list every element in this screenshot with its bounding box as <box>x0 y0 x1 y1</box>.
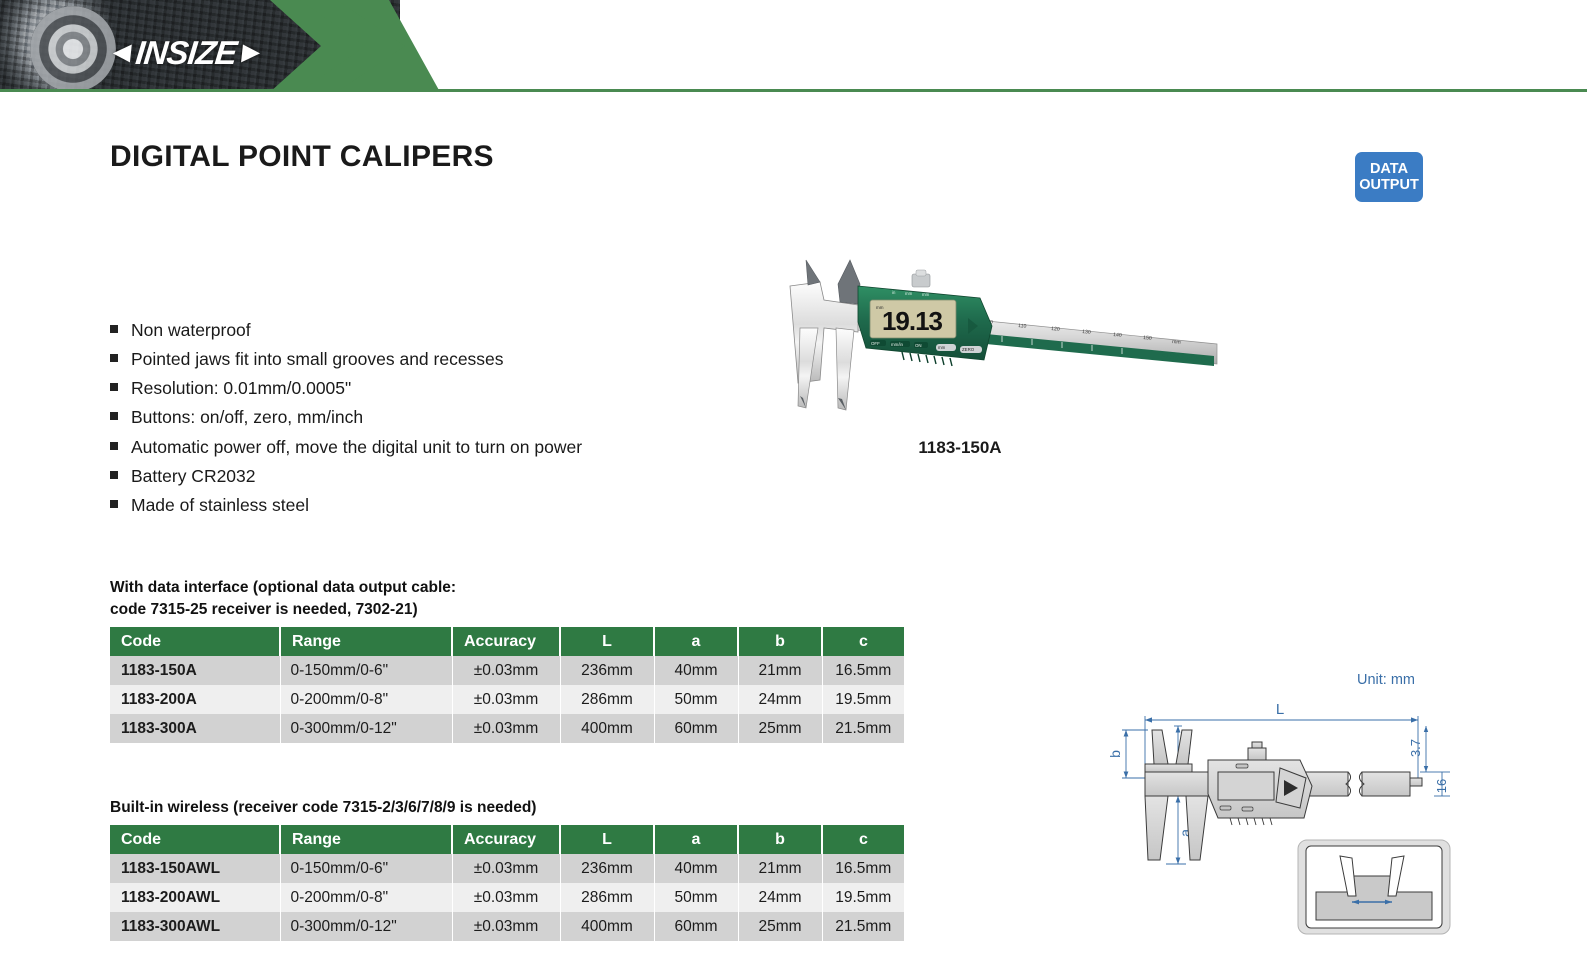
logo-arrow-left-icon: ◄ <box>105 36 137 70</box>
square-bullet-icon <box>110 383 118 391</box>
caption-line-2: code 7315-25 receiver is needed, 7302-21… <box>110 599 904 621</box>
svg-text:120: 120 <box>1051 326 1060 333</box>
svg-text:mm: mm <box>905 291 913 296</box>
spec-table-data-interface: Code Range Accuracy L a b c 1183-150A 0-… <box>110 627 904 743</box>
cell-L: 236mm <box>560 656 654 685</box>
list-item: Pointed jaws fit into small grooves and … <box>110 347 730 371</box>
square-bullet-icon <box>110 500 118 508</box>
data-output-badge: DATA OUTPUT <box>1355 152 1423 202</box>
caption-line-1: With data interface (optional data outpu… <box>110 577 904 599</box>
svg-text:ON: ON <box>915 343 922 348</box>
cell-a: 50mm <box>654 685 738 714</box>
cell-b: 21mm <box>738 656 822 685</box>
cell-L: 286mm <box>560 685 654 714</box>
page-header: ◄INSIZE► <box>0 0 1587 92</box>
header-green-rule <box>0 89 1587 92</box>
cell-code: 1183-150A <box>110 656 280 685</box>
cell-c: 16.5mm <box>822 656 904 685</box>
svg-text:mm: mm <box>938 345 946 350</box>
insize-logo: ◄INSIZE► <box>94 36 278 70</box>
product-photo-caption: 1183-150A <box>760 438 1160 458</box>
cell-code: 1183-300A <box>110 714 280 743</box>
column-header-accuracy: Accuracy <box>452 627 560 656</box>
cell-accuracy: ±0.03mm <box>452 714 560 743</box>
dim-label-3-7: 3.7 <box>1408 739 1423 757</box>
column-header-L: L <box>560 825 654 854</box>
list-item: Battery CR2032 <box>110 464 730 488</box>
list-item: Automatic power off, move the digital un… <box>110 435 730 459</box>
table-caption-data-interface: With data interface (optional data outpu… <box>110 577 904 621</box>
cell-code: 1183-200A <box>110 685 280 714</box>
svg-text:mm/in: mm/in <box>891 342 904 347</box>
svg-text:mm: mm <box>1172 339 1181 346</box>
cell-a: 50mm <box>654 883 738 912</box>
cell-b: 24mm <box>738 685 822 714</box>
svg-text:ZERO: ZERO <box>962 347 975 352</box>
column-header-range: Range <box>280 825 452 854</box>
badge-line-2: OUTPUT <box>1359 177 1419 193</box>
logo-wordmark: INSIZE <box>134 34 238 72</box>
cell-accuracy: ±0.03mm <box>452 883 560 912</box>
cell-b: 25mm <box>738 714 822 743</box>
table-header-row: Code Range Accuracy L a b c <box>110 825 904 854</box>
feature-list: Non waterproof Pointed jaws fit into sma… <box>110 318 730 522</box>
cell-L: 400mm <box>560 912 654 941</box>
cell-range: 0-300mm/0-12" <box>280 714 452 743</box>
cell-accuracy: ±0.03mm <box>452 685 560 714</box>
cell-range: 0-200mm/0-8" <box>280 883 452 912</box>
square-bullet-icon <box>110 442 118 450</box>
svg-text:110: 110 <box>1018 323 1027 330</box>
cell-b: 24mm <box>738 883 822 912</box>
cell-range: 0-200mm/0-8" <box>280 685 452 714</box>
feature-text: Pointed jaws fit into small grooves and … <box>131 347 504 371</box>
square-bullet-icon <box>110 354 118 362</box>
cell-L: 236mm <box>560 854 654 883</box>
column-header-c: c <box>822 627 904 656</box>
page-title: DIGITAL POINT CALIPERS <box>110 140 494 174</box>
list-item: Made of stainless steel <box>110 493 730 517</box>
column-header-code: Code <box>110 825 280 854</box>
cell-code: 1183-200AWL <box>110 883 280 912</box>
table-header-row: Code Range Accuracy L a b c <box>110 627 904 656</box>
table-row: 1183-200A 0-200mm/0-8" ±0.03mm 286mm 50m… <box>110 685 904 714</box>
column-header-a: a <box>654 825 738 854</box>
list-item: Buttons: on/off, zero, mm/inch <box>110 405 730 429</box>
cell-a: 60mm <box>654 912 738 941</box>
technical-drawing: L b c a 3.7 16 <box>1090 668 1470 938</box>
cell-c: 21.5mm <box>822 912 904 941</box>
svg-text:mm: mm <box>876 305 884 310</box>
feature-text: Battery CR2032 <box>131 464 256 488</box>
svg-text:OFF: OFF <box>871 341 880 346</box>
column-header-L: L <box>560 627 654 656</box>
square-bullet-icon <box>110 325 118 333</box>
feature-text: Non waterproof <box>131 318 251 342</box>
cell-L: 286mm <box>560 883 654 912</box>
square-bullet-icon <box>110 471 118 479</box>
cell-code: 1183-150AWL <box>110 854 280 883</box>
cell-accuracy: ±0.03mm <box>452 854 560 883</box>
feature-text: Resolution: 0.01mm/0.0005" <box>131 376 351 400</box>
cell-a: 40mm <box>654 656 738 685</box>
dim-label-L: L <box>1276 701 1284 718</box>
cell-b: 25mm <box>738 912 822 941</box>
table-row: 1183-150A 0-150mm/0-6" ±0.03mm 236mm 40m… <box>110 656 904 685</box>
table-caption-builtin-wireless: Built-in wireless (receiver code 7315-2/… <box>110 797 904 819</box>
column-header-c: c <box>822 825 904 854</box>
cell-c: 16.5mm <box>822 854 904 883</box>
table-row: 1183-150AWL 0-150mm/0-6" ±0.03mm 236mm 4… <box>110 854 904 883</box>
column-header-code: Code <box>110 627 280 656</box>
list-item: Non waterproof <box>110 318 730 342</box>
column-header-a: a <box>654 627 738 656</box>
svg-text:mm: mm <box>922 292 930 297</box>
table-row: 1183-200AWL 0-200mm/0-8" ±0.03mm 286mm 5… <box>110 883 904 912</box>
column-header-b: b <box>738 627 822 656</box>
column-header-range: Range <box>280 627 452 656</box>
cell-c: 19.5mm <box>822 883 904 912</box>
cell-a: 40mm <box>654 854 738 883</box>
feature-text: Buttons: on/off, zero, mm/inch <box>131 405 363 429</box>
application-inset-diagram <box>1298 840 1450 934</box>
cell-accuracy: ±0.03mm <box>452 912 560 941</box>
feature-text: Automatic power off, move the digital un… <box>131 435 582 459</box>
square-bullet-icon <box>110 412 118 420</box>
cell-c: 21.5mm <box>822 714 904 743</box>
caption-line-1: Built-in wireless (receiver code 7315-2/… <box>110 797 904 819</box>
svg-text:19.13: 19.13 <box>882 306 943 336</box>
cell-code: 1183-300AWL <box>110 912 280 941</box>
cell-c: 19.5mm <box>822 685 904 714</box>
list-item: Resolution: 0.01mm/0.0005" <box>110 376 730 400</box>
column-header-accuracy: Accuracy <box>452 825 560 854</box>
table-row: 1183-300AWL 0-300mm/0-12" ±0.03mm 400mm … <box>110 912 904 941</box>
badge-line-1: DATA <box>1370 161 1408 177</box>
cell-a: 60mm <box>654 714 738 743</box>
cell-range: 0-300mm/0-12" <box>280 912 452 941</box>
table-row: 1183-300A 0-300mm/0-12" ±0.03mm 400mm 60… <box>110 714 904 743</box>
cell-L: 400mm <box>560 714 654 743</box>
svg-text:130: 130 <box>1082 329 1091 336</box>
dim-label-16: 16 <box>1434 779 1449 793</box>
table-block-builtin-wireless: Built-in wireless (receiver code 7315-2/… <box>110 797 904 941</box>
table-block-data-interface: With data interface (optional data outpu… <box>110 577 904 743</box>
logo-arrow-right-icon: ► <box>234 36 266 70</box>
cell-b: 21mm <box>738 854 822 883</box>
svg-text:140: 140 <box>1113 332 1122 339</box>
spec-table-builtin-wireless: Code Range Accuracy L a b c 1183-150AWL … <box>110 825 904 941</box>
cell-range: 0-150mm/0-6" <box>280 656 452 685</box>
cell-accuracy: ±0.03mm <box>452 656 560 685</box>
dim-label-b: b <box>1107 750 1123 758</box>
svg-text:150: 150 <box>1143 335 1152 342</box>
column-header-b: b <box>738 825 822 854</box>
cell-range: 0-150mm/0-6" <box>280 854 452 883</box>
product-photo-caliper: 30 100 110 120 130 140 150 mm ◄INSIZE► <box>762 248 1232 438</box>
feature-text: Made of stainless steel <box>131 493 309 517</box>
